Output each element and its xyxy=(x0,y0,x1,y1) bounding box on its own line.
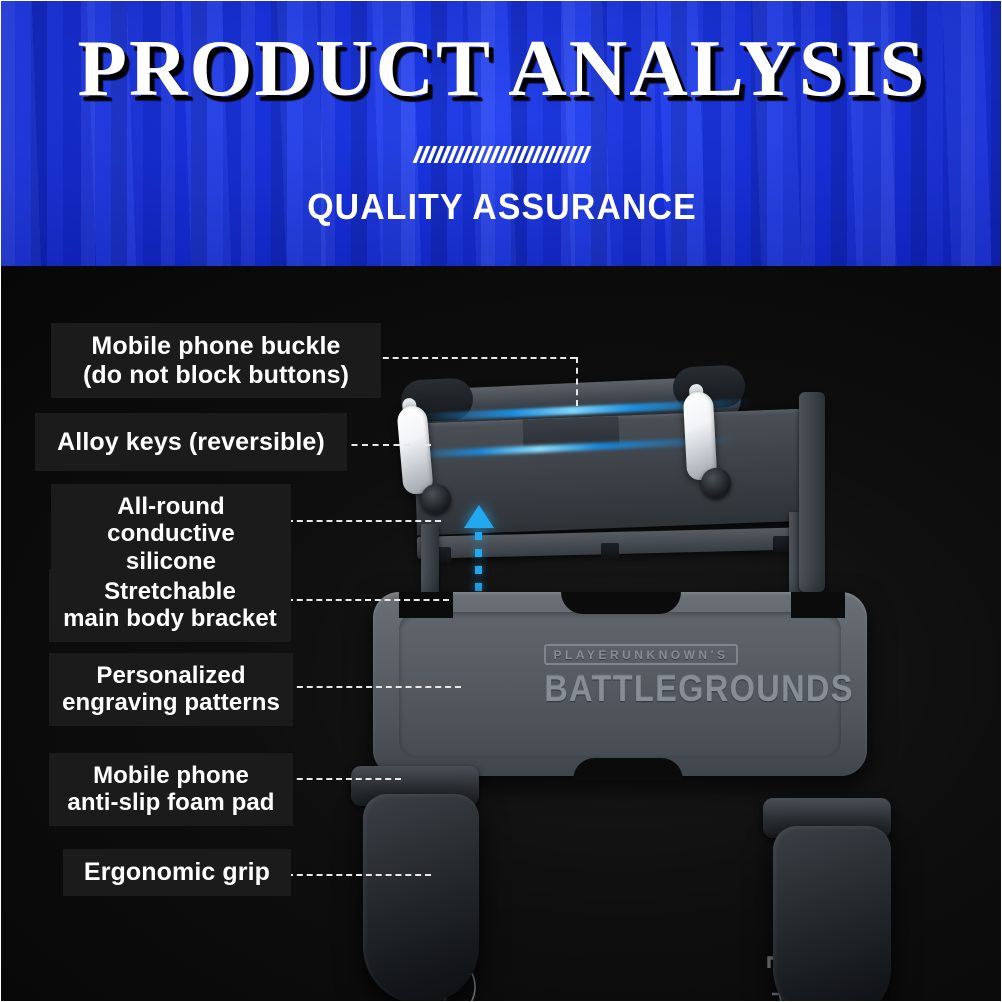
callout-mobile-phone-buckle: Mobile phone buckle (do not block button… xyxy=(51,323,381,398)
callout-personalized-engraving-patterns: Personalized engraving patterns xyxy=(49,653,293,726)
divider-ticks xyxy=(1,143,1002,165)
pubg-logo-top-text: PLAYERUNKNOWN'S xyxy=(544,644,739,665)
lead-buckle xyxy=(373,357,576,359)
body-notch-right xyxy=(791,592,845,618)
lead-foampad xyxy=(287,778,401,780)
header-banner: PRODUCT ANALYSIS QUALITY ASSURANCE xyxy=(1,1,1002,266)
bracket-tab-mid xyxy=(601,543,619,559)
body-top-dip xyxy=(561,592,681,614)
alloy-key-left-pivot xyxy=(421,484,451,514)
lead-keys xyxy=(341,444,431,446)
callout-mobile-phone-anti-slip-foam-pad: Mobile phone anti-slip foam pad xyxy=(49,753,293,826)
lead-silicone xyxy=(287,520,441,522)
body-notch-left xyxy=(399,592,453,618)
product-infographic: PRODUCT ANALYSIS QUALITY ASSURANCE xyxy=(0,0,1002,1002)
arrow-up-icon xyxy=(464,505,494,528)
lead-buckle-vertical xyxy=(576,357,578,406)
lead-grip xyxy=(287,874,431,876)
product-stage: PLAYERUNKNOWN'S BATTLEGROUNDS xyxy=(1,266,1002,1002)
page-subtitle: QUALITY ASSURANCE xyxy=(31,186,973,228)
pubg-logo-main-text: BATTLEGROUNDS xyxy=(544,668,738,710)
ergonomic-grip-right xyxy=(773,826,891,1002)
lead-engrave xyxy=(287,686,461,688)
bracket-post-left xyxy=(421,524,439,602)
page-title: PRODUCT ANALYSIS xyxy=(1,25,1002,112)
callout-alloy-keys: Alloy keys (reversible) xyxy=(35,413,347,471)
body-bottom-dip xyxy=(573,758,683,780)
phone-clamp-arm-right xyxy=(799,392,825,592)
pubg-logo: PLAYERUNKNOWN'S BATTLEGROUNDS xyxy=(531,644,751,710)
callout-stretchable-main-body-bracket: Stretchable main body bracket xyxy=(49,569,291,642)
lead-bracket xyxy=(287,599,449,601)
ergonomic-grip-left xyxy=(363,794,479,1002)
alloy-key-right-pivot xyxy=(701,468,731,498)
callout-ergonomic-grip: Ergonomic grip xyxy=(63,849,291,896)
